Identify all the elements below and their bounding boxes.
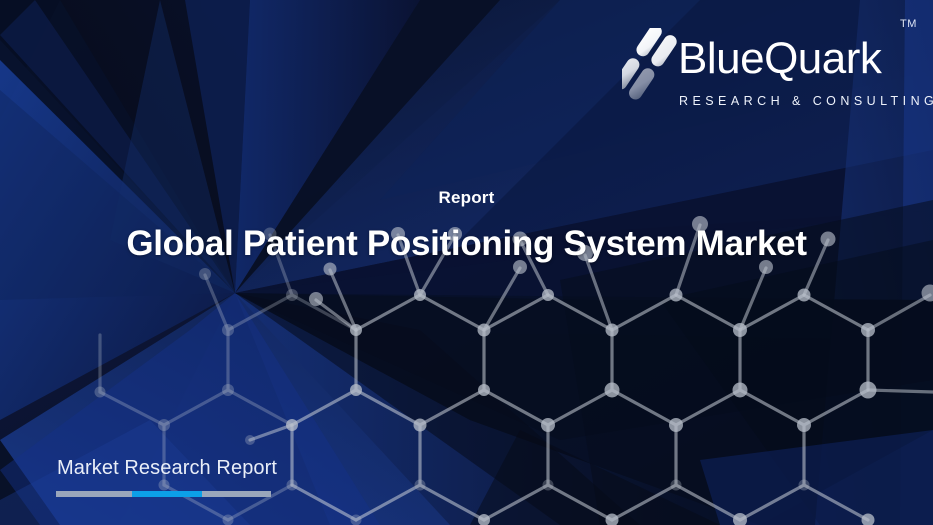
- trademark-symbol: TM: [900, 18, 917, 30]
- bluequark-double-chevron-logo-icon: [622, 28, 684, 108]
- footer-bar-segment-left: [56, 491, 132, 497]
- footer-bar-segment-right: [202, 491, 271, 497]
- brand-wordmark-quark: Quark: [764, 34, 881, 83]
- brand-logo[interactable]: BlueQuark RESEARCH & CONSULTING TM: [612, 14, 918, 114]
- brand-wordmark: BlueQuark: [678, 37, 881, 81]
- footer-bar-segment-middle: [132, 491, 202, 497]
- page-title: Global Patient Positioning System Market: [0, 221, 933, 266]
- brand-wordmark-blue: Blue: [678, 34, 764, 83]
- brand-tagline: RESEARCH & CONSULTING: [679, 95, 933, 108]
- report-kicker: Report: [0, 188, 933, 208]
- footer-accent-bar: [56, 491, 271, 497]
- footer-label: Market Research Report: [57, 456, 277, 480]
- report-cover-page: BlueQuark RESEARCH & CONSULTING TM Repor…: [0, 0, 933, 525]
